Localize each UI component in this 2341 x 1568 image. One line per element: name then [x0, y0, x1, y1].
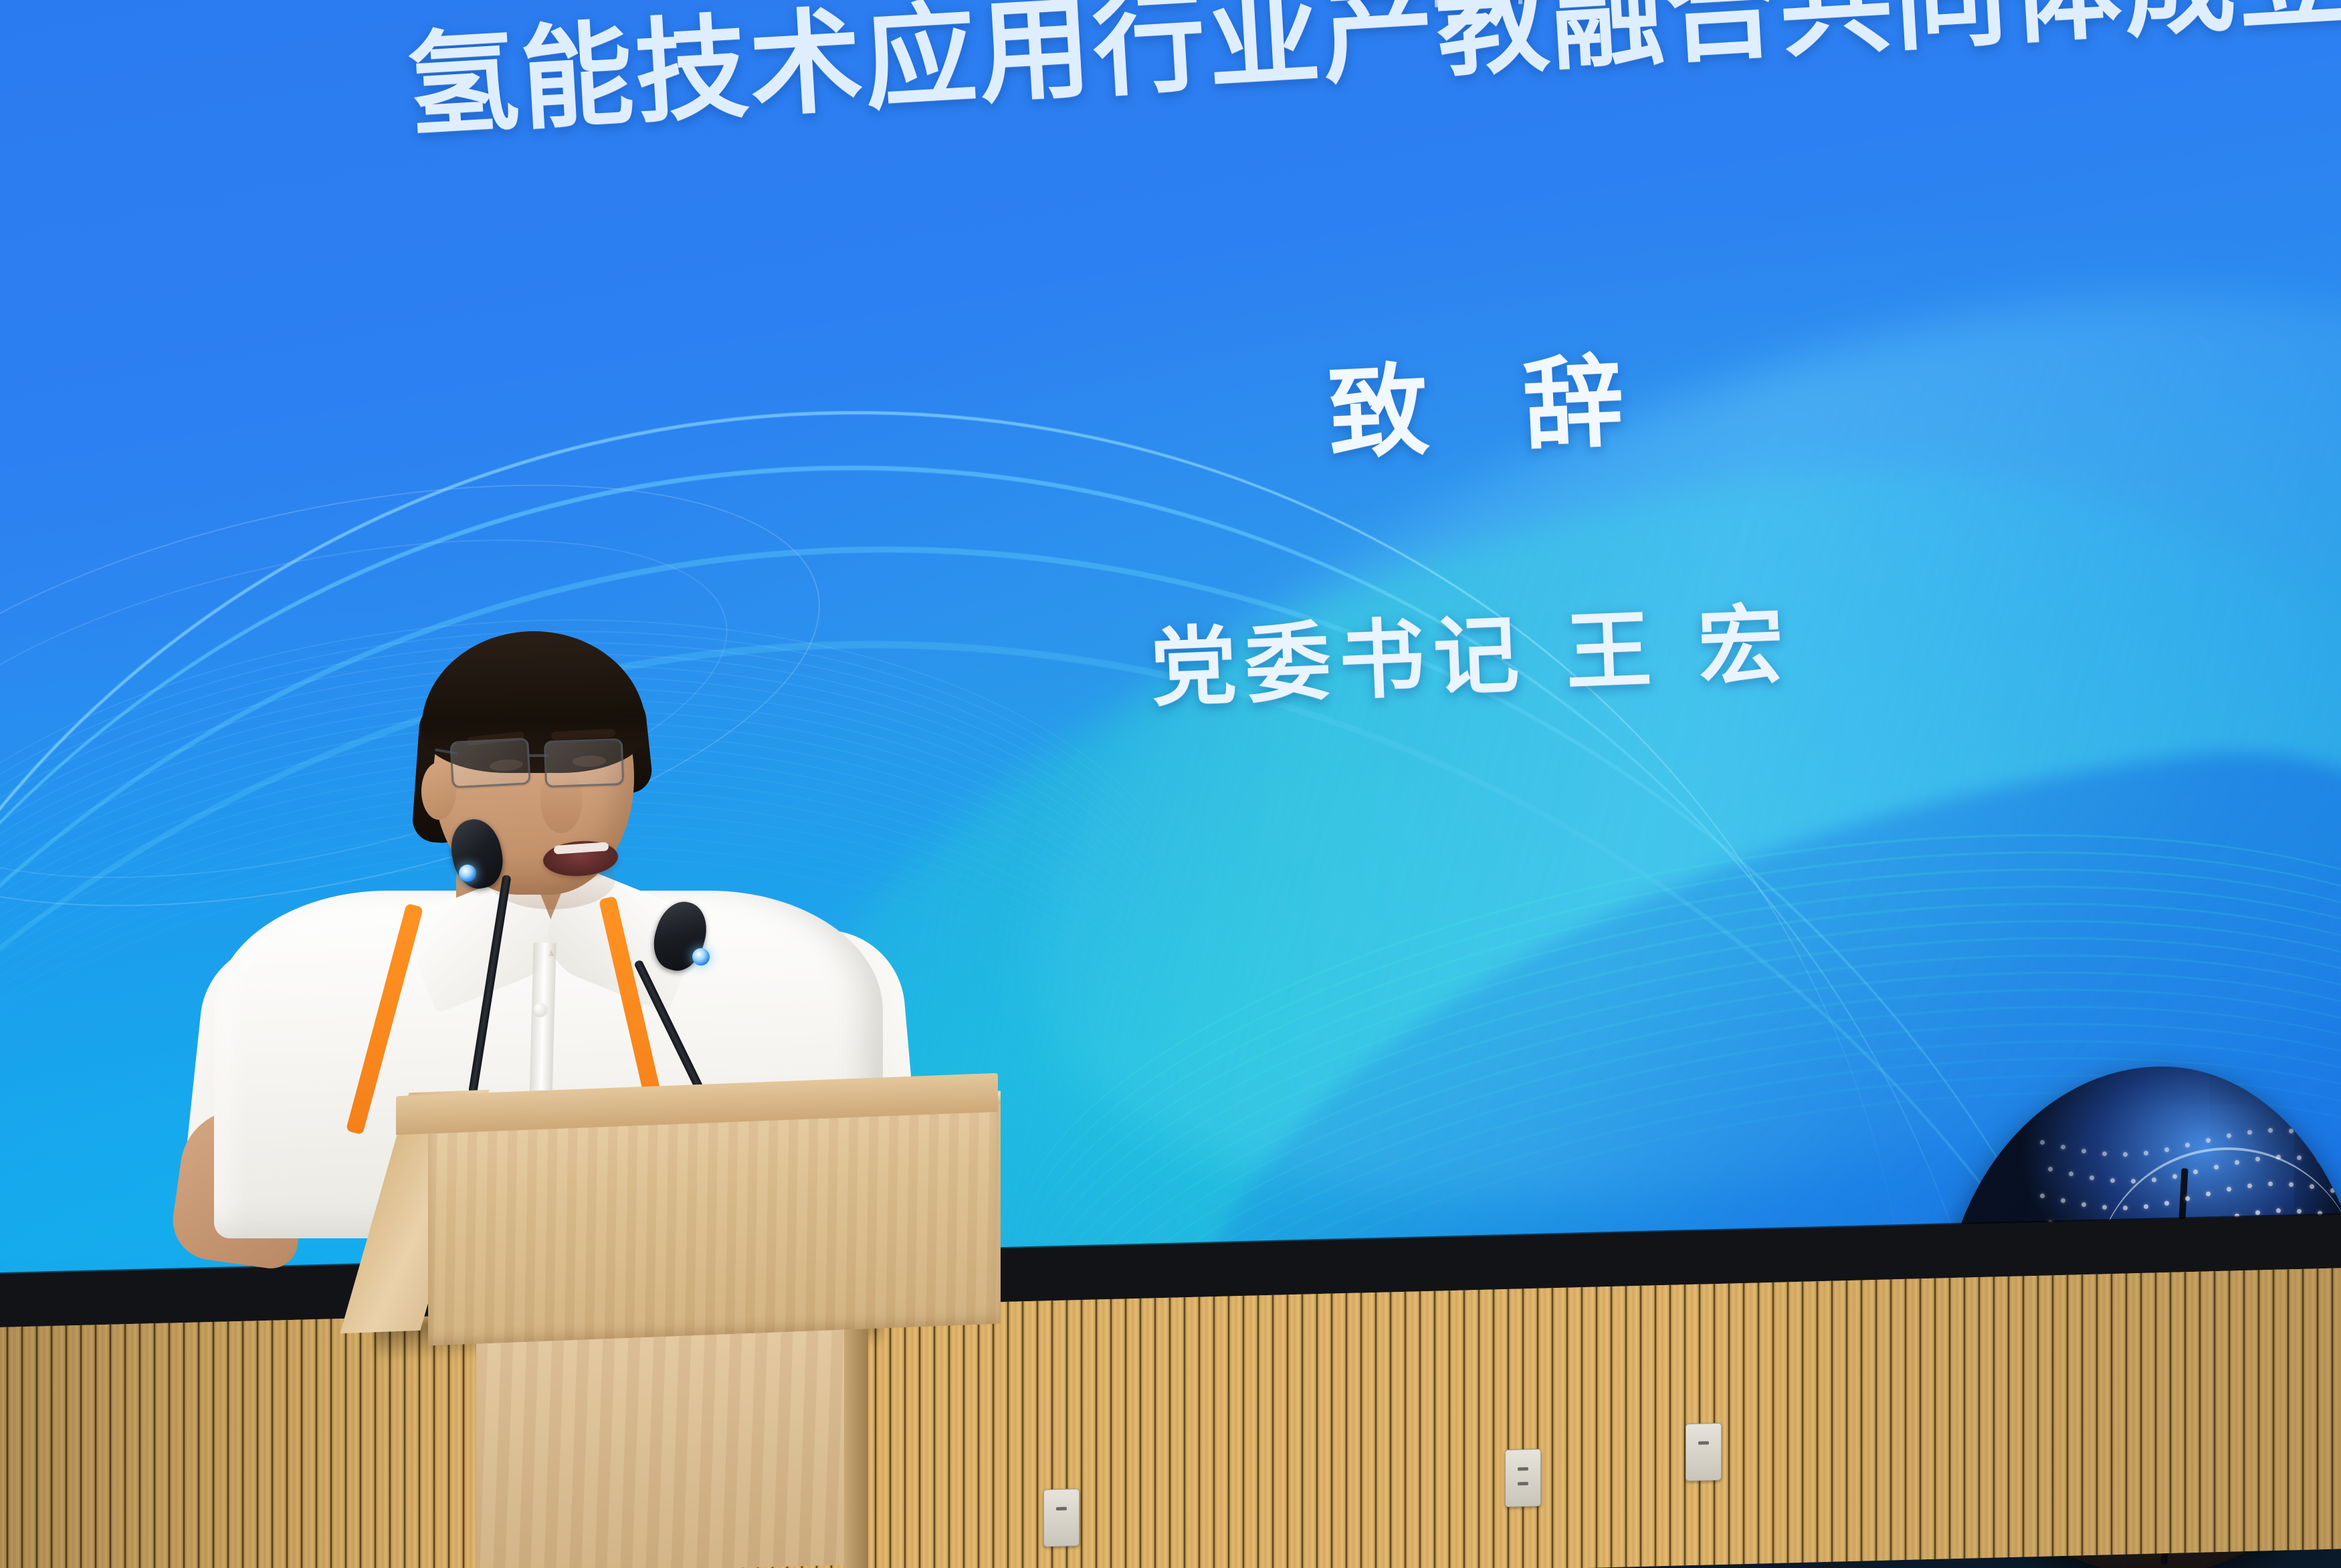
sphere-led-dot: [2102, 1151, 2107, 1156]
sphere-led-dot: [2255, 1157, 2260, 1161]
sphere-led-dot: [2061, 1145, 2065, 1149]
sphere-led-dot: [2081, 1202, 2086, 1207]
wall-switch-plate[interactable]: [1043, 1488, 1080, 1547]
sphere-led-dot: [2227, 1187, 2231, 1192]
sphere-led-dot: [2330, 1188, 2335, 1193]
sphere-led-dot: [2289, 1129, 2294, 1133]
sphere-led-dot: [2144, 1151, 2148, 1155]
sphere-led-dot: [2131, 1179, 2136, 1184]
sphere-led-dot: [2123, 1206, 2128, 1210]
sphere-led-dot: [2255, 1210, 2260, 1215]
sphere-led-dot: [2206, 1192, 2211, 1196]
sphere-led-dot: [2268, 1128, 2273, 1133]
sphere-led-dot: [2144, 1204, 2148, 1209]
sphere-led-dot: [2214, 1165, 2219, 1169]
microphone-led-indicator: [692, 948, 710, 966]
sphere-led-dot: [2185, 1143, 2190, 1147]
sphere-led-dot: [2227, 1133, 2231, 1138]
sphere-led-dot: [2206, 1138, 2211, 1143]
lectern-column-edge: [844, 1322, 868, 1568]
sphere-led-dot: [2185, 1196, 2190, 1201]
sphere-led-dot: [2235, 1160, 2239, 1165]
sphere-led-dot: [2297, 1155, 2302, 1160]
sphere-led-dot: [2090, 1175, 2094, 1180]
sphere-led-dot: [2172, 1174, 2177, 1179]
sphere-led-dot: [2193, 1169, 2198, 1174]
sphere-led-dot: [2061, 1198, 2065, 1203]
microphone-led-indicator: [459, 865, 476, 882]
sphere-led-dot: [2164, 1147, 2169, 1152]
sphere-led-dot: [2048, 1167, 2053, 1171]
sphere-led-dot: [2164, 1201, 2169, 1206]
wall-outlet-plate[interactable]: [1686, 1423, 1722, 1481]
screen-title-line-1: 氢能技术应用行业产教融合共同体成立大会: [401, 0, 2341, 158]
glasses-lens-left: [449, 738, 531, 788]
sphere-led-dot: [2069, 1171, 2073, 1176]
sphere-led-dot: [2110, 1178, 2115, 1183]
sphere-led-dot: [2338, 1161, 2341, 1166]
sphere-led-dot: [2040, 1194, 2045, 1198]
screen-title-line-2: 致 辞: [1324, 319, 1657, 479]
sphere-led-dot: [2081, 1149, 2086, 1153]
sphere-led-dot: [2152, 1178, 2156, 1182]
lectern-column: [476, 1317, 851, 1568]
wall-outlet-plate[interactable]: [1505, 1449, 1541, 1507]
sphere-led-dot: [2247, 1184, 2252, 1188]
glasses-bridge: [528, 754, 548, 757]
shirt-button: [534, 1003, 547, 1016]
sphere-led-dot: [2297, 1209, 2302, 1214]
nose: [540, 770, 582, 833]
sphere-led-dot: [2247, 1130, 2252, 1135]
screen-title-line-3: 党委书记 王 宏: [1148, 575, 1795, 723]
sphere-led-dot: [2289, 1182, 2294, 1187]
sphere-led-dot: [2040, 1140, 2045, 1145]
sphere-led-dot: [2123, 1152, 2128, 1157]
conference-photo-stage: ERSITY 氢能技术应用行业产教融合共同体成立大会 致 辞 党委书记 王 宏: [0, 0, 2341, 1568]
sphere-led-dot: [2102, 1205, 2107, 1210]
